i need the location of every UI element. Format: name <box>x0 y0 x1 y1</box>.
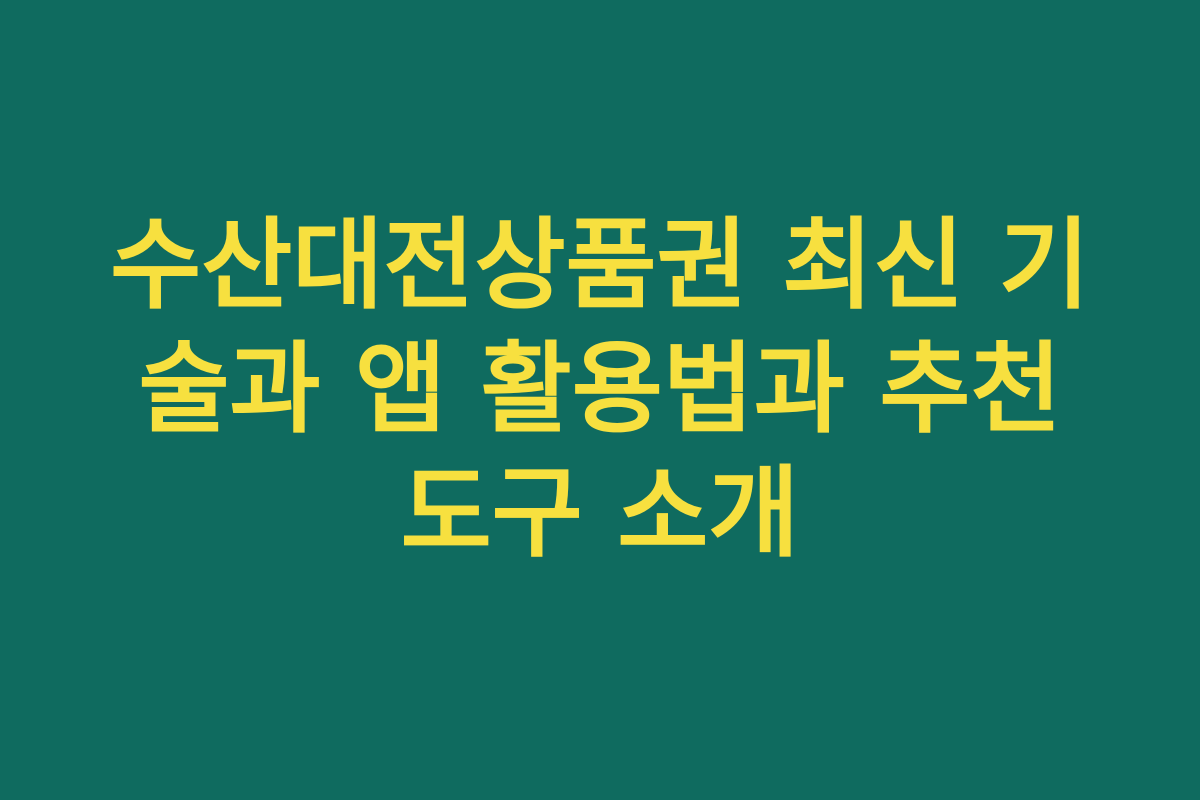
banner-title-block: 수산대전상품권 최신 기 술과 앱 활용법과 추천 도구 소개 <box>95 204 1105 576</box>
banner-title-line-2: 술과 앱 활용법과 추천 <box>95 328 1105 452</box>
banner-title-line-3: 도구 소개 <box>95 452 1105 576</box>
banner-title-line-1: 수산대전상품권 최신 기 <box>95 204 1105 328</box>
banner-canvas: 수산대전상품권 최신 기 술과 앱 활용법과 추천 도구 소개 <box>0 0 1200 800</box>
